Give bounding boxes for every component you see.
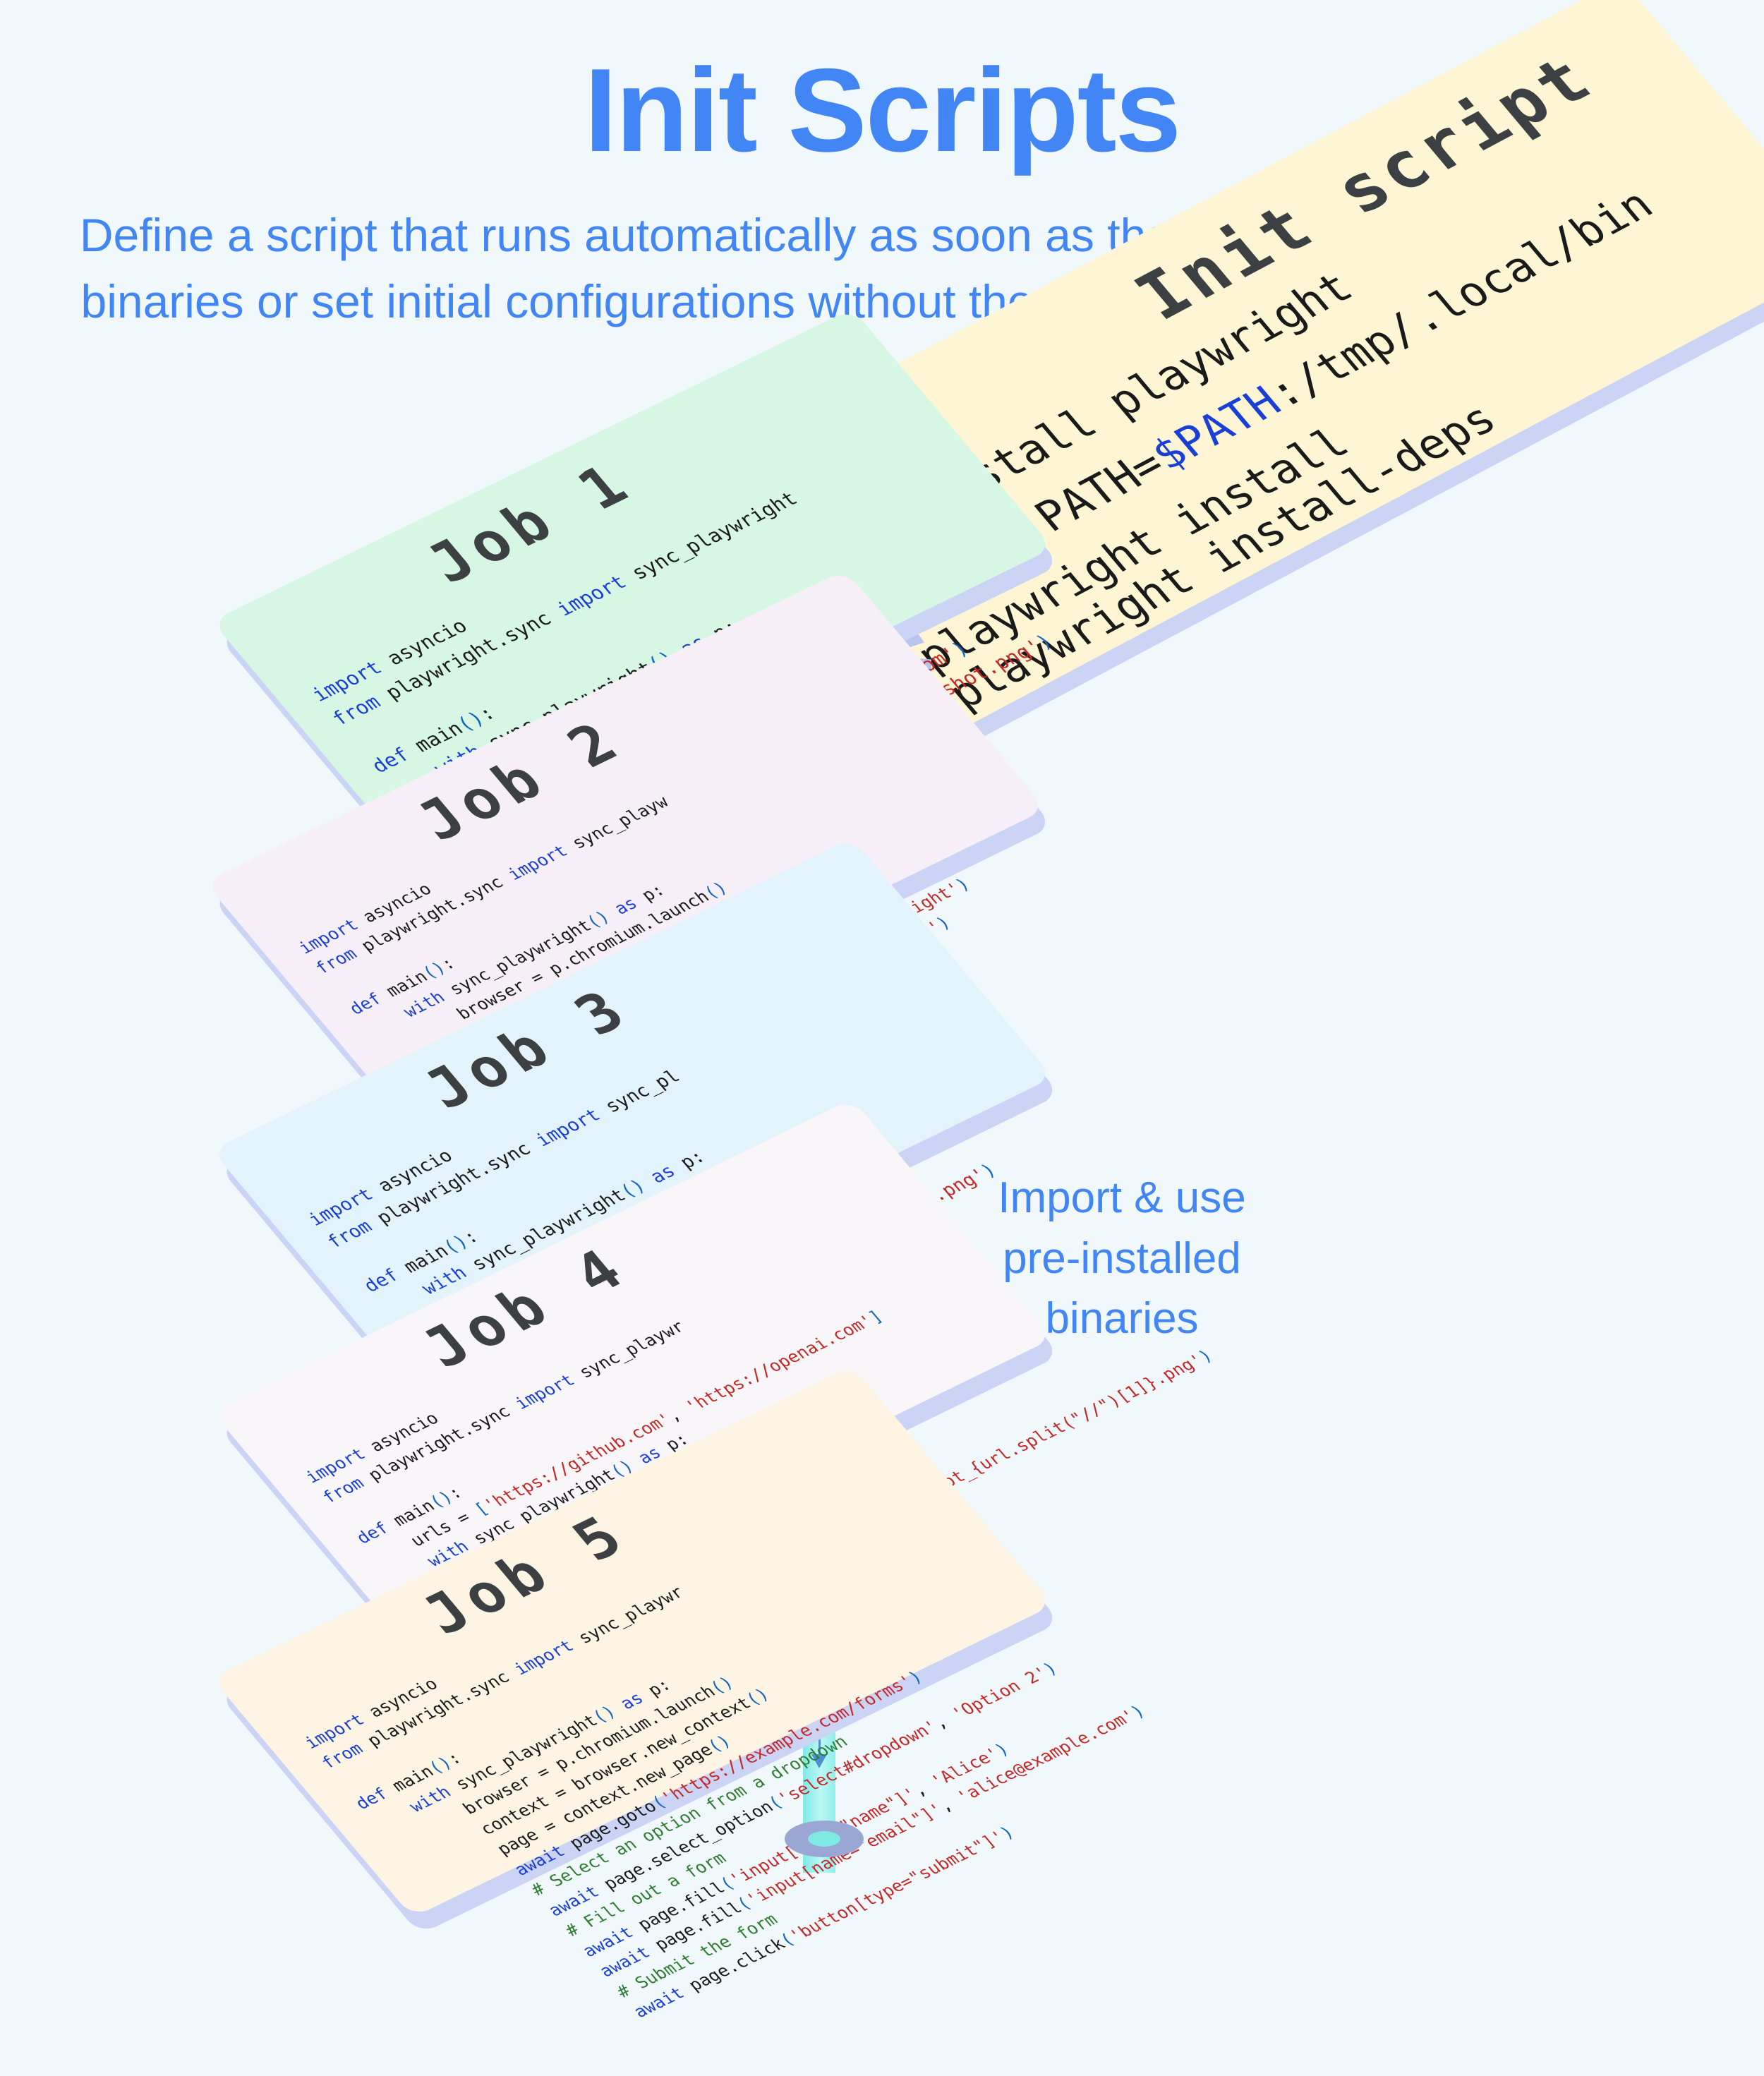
pipe-port-5 xyxy=(785,1821,864,1857)
pipe-port-hole xyxy=(808,1831,840,1847)
side-note-line-1: Import & use xyxy=(974,1168,1270,1229)
side-note-line-2: pre-installed xyxy=(974,1229,1270,1289)
isometric-diagram: Init script pip install playwright expor… xyxy=(0,0,1764,1873)
side-note-line-3: binaries xyxy=(974,1289,1270,1349)
side-note: Import & use pre-installed binaries xyxy=(974,1168,1270,1349)
